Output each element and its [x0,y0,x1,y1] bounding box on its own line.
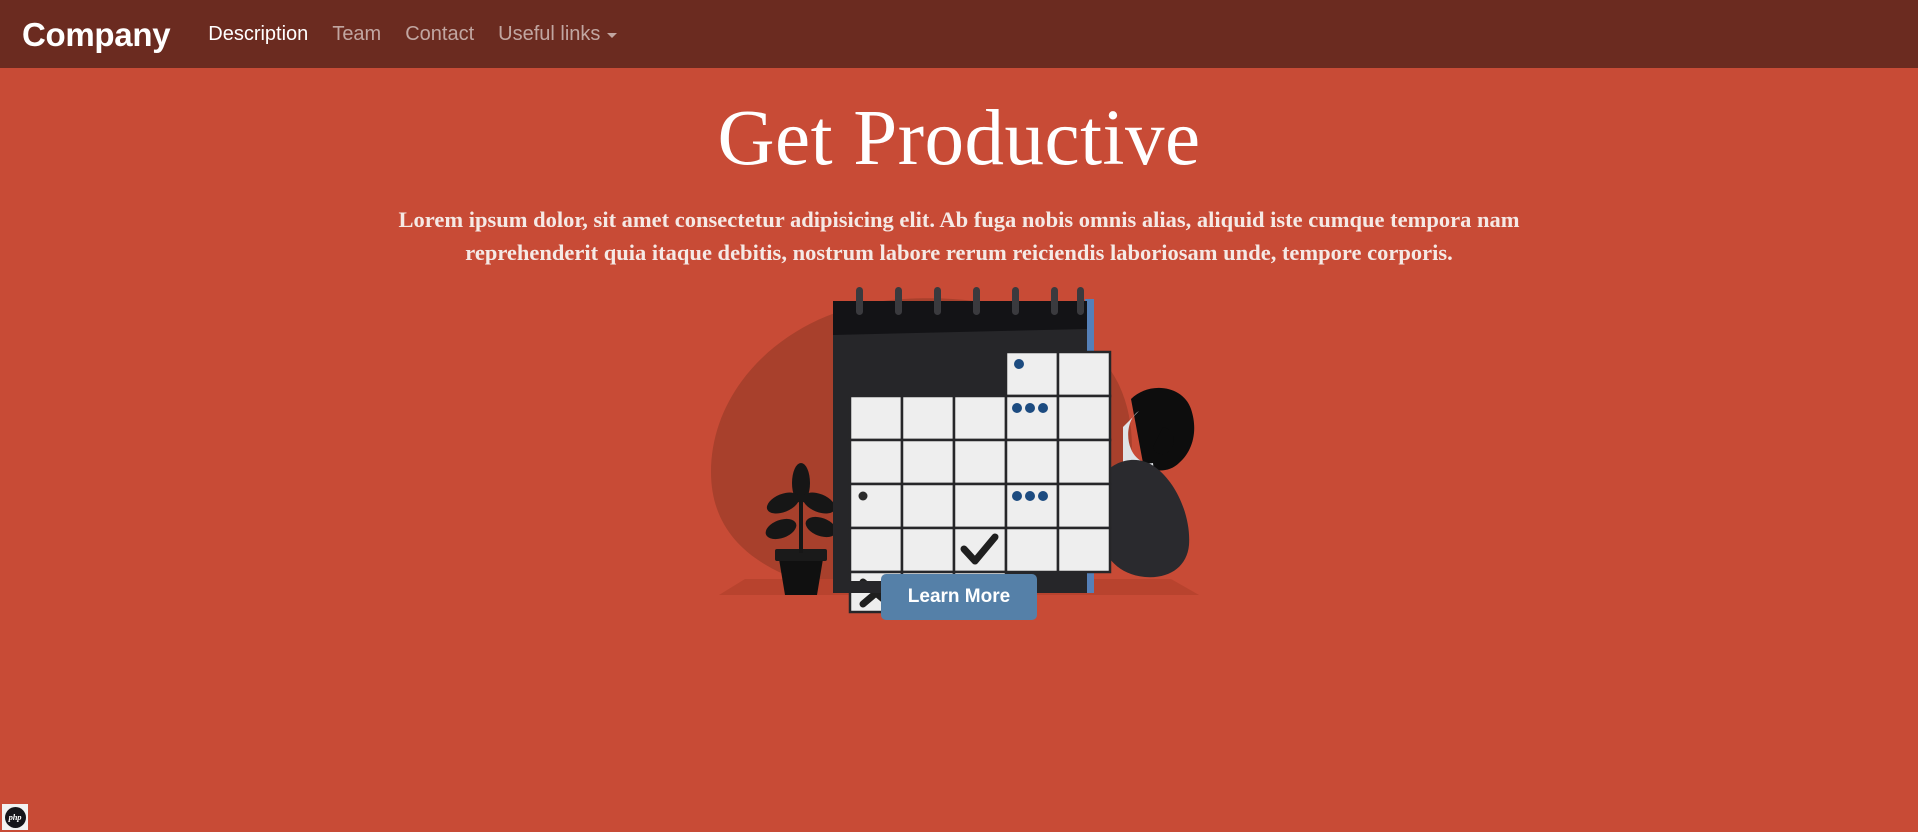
marker-triple-dot-r4c4 [1012,491,1048,501]
main-navbar: Company Description Team Contact Useful … [0,0,1918,68]
php-logo-badge[interactable]: php [2,804,28,830]
marker-triple-dot-r2c4 [1012,403,1048,413]
nav-links: Description Team Contact Useful links [196,18,629,50]
hero-section: Get Productive Lorem ipsum dolor, sit am… [0,68,1918,677]
nav-dropdown-label: Useful links [498,22,600,46]
cta-row: Learn More [0,574,1918,621]
nav-link-contact[interactable]: Contact [393,18,486,50]
page-title: Get Productive [0,68,1918,185]
nav-link-description[interactable]: Description [196,18,320,50]
nav-link-team[interactable]: Team [320,18,393,50]
nav-dropdown-useful-links[interactable]: Useful links [486,18,629,50]
caret-down-icon [607,33,617,38]
marker-single-dot-r1c4 [1014,359,1024,369]
brand-logo[interactable]: Company [22,18,170,51]
php-logo-label: php [9,813,22,822]
hero-subtitle: Lorem ipsum dolor, sit amet consectetur … [325,203,1593,270]
php-logo-icon: php [5,807,26,828]
marker-single-dot-r4c1 [859,492,868,501]
learn-more-button[interactable]: Learn More [881,574,1037,621]
